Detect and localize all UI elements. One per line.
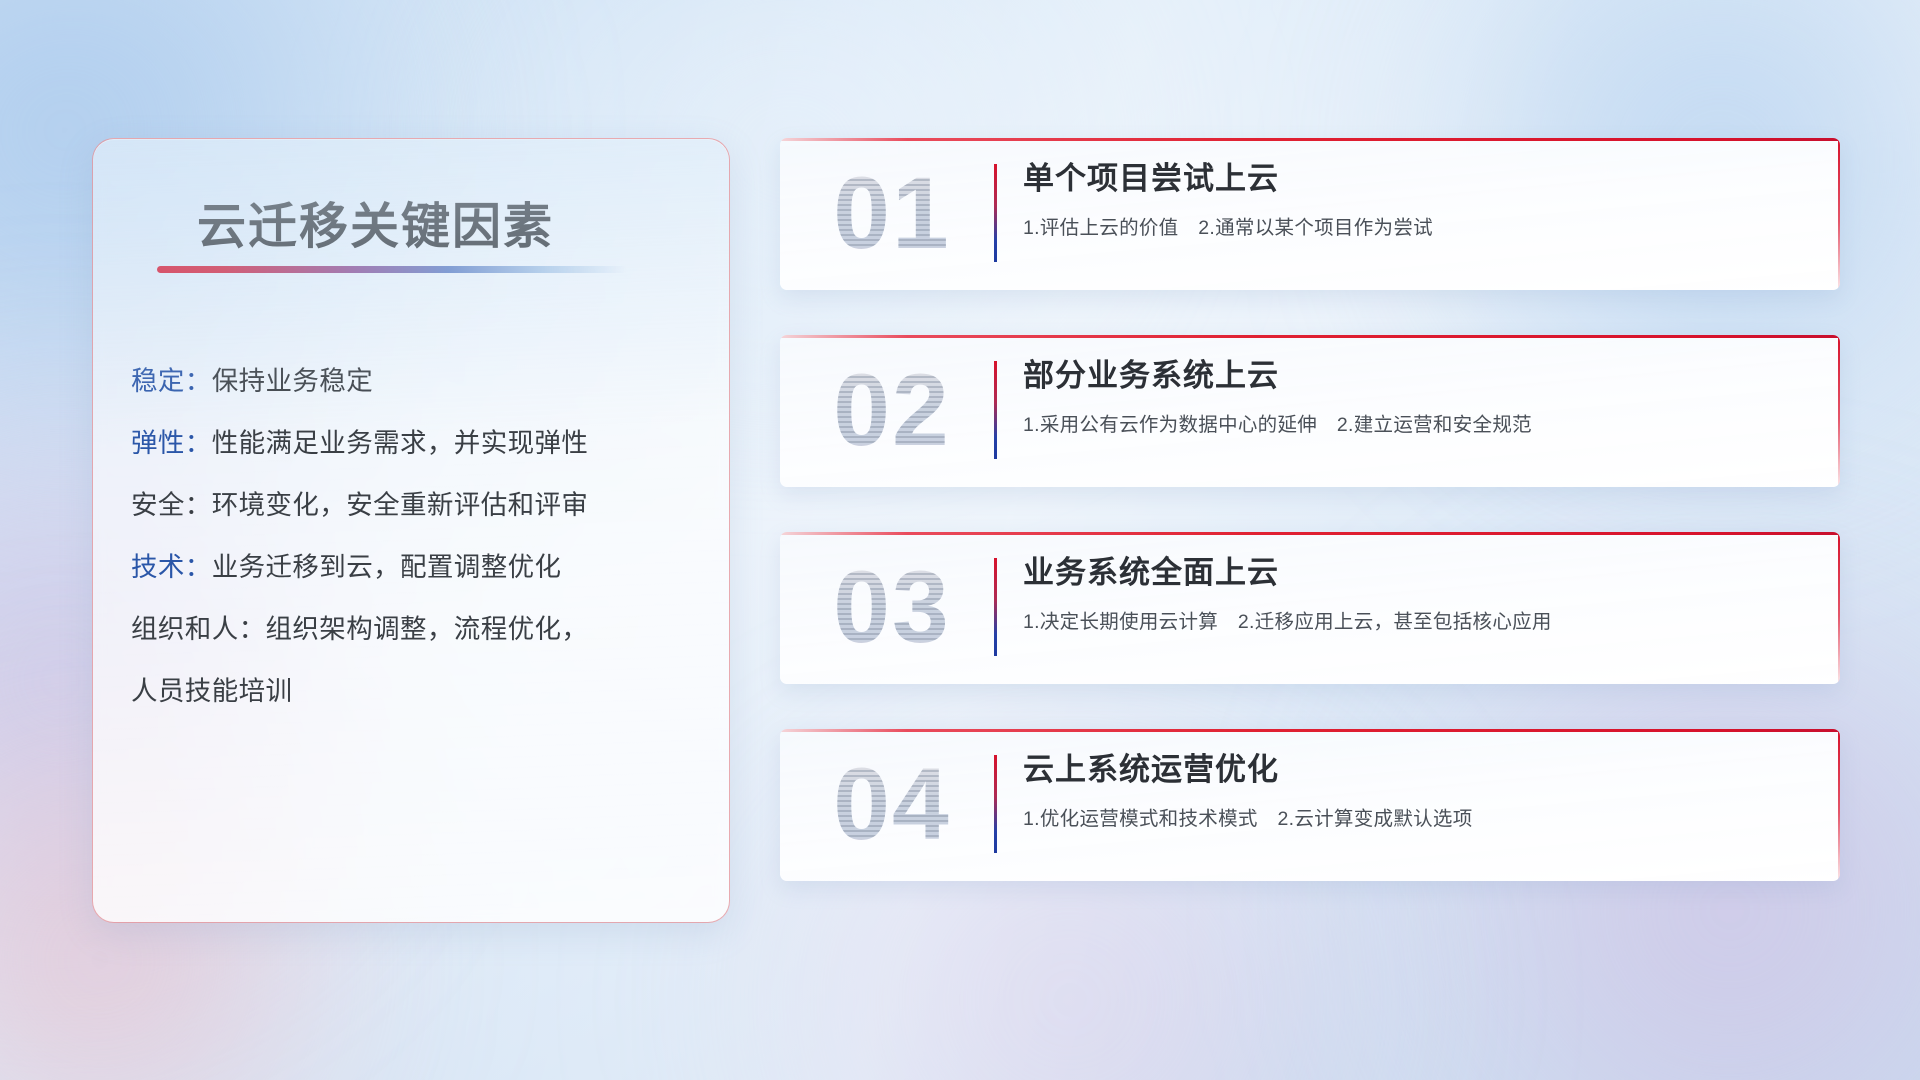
list-item: 稳定： 保持业务稳定: [131, 347, 705, 409]
step-number-watermark: 04: [802, 745, 982, 863]
step-divider-bar: [994, 164, 997, 262]
step-title: 业务系统全面上云: [1023, 550, 1804, 596]
step-title: 部分业务系统上云: [1023, 353, 1804, 399]
step-card-01[interactable]: 01 单个项目尝试上云 1.评估上云的价值 2.通常以某个项目作为尝试: [780, 138, 1840, 290]
factor-label: 技术：: [131, 545, 212, 584]
key-factors-list: 稳定： 保持业务稳定 弹性： 性能满足业务需求，并实现弹性 安全： 环境变化，安…: [131, 347, 705, 719]
page-title: 云迁移关键因素: [197, 187, 554, 258]
factor-label: 组织和人：: [131, 607, 266, 646]
list-item: 技术： 业务迁移到云，配置调整优化: [131, 533, 705, 595]
step-card-02[interactable]: 02 部分业务系统上云 1.采用公有云作为数据中心的延伸 2.建立运营和安全规范: [780, 335, 1840, 487]
cloud-migration-steps: 01 单个项目尝试上云 1.评估上云的价值 2.通常以某个项目作为尝试 02 部…: [780, 138, 1840, 926]
step-divider-bar: [994, 755, 997, 853]
title-underline-gradient: [157, 266, 627, 273]
step-subtitle: 1.决定长期使用云计算 2.迁移应用上云，甚至包括核心应用: [1023, 605, 1804, 634]
step-body: 云上系统运营优化 1.优化运营模式和技术模式 2.云计算变成默认选项: [1023, 747, 1804, 831]
step-body: 单个项目尝试上云 1.评估上云的价值 2.通常以某个项目作为尝试: [1023, 156, 1804, 240]
step-body: 部分业务系统上云 1.采用公有云作为数据中心的延伸 2.建立运营和安全规范: [1023, 353, 1804, 437]
list-item: 安全： 环境变化，安全重新评估和评审: [131, 471, 705, 533]
factor-label: 安全：: [131, 483, 212, 522]
step-number-watermark: 01: [802, 154, 982, 272]
factor-value: 环境变化，安全重新评估和评审: [212, 483, 589, 522]
factor-label: 弹性：: [131, 421, 212, 460]
list-item: 人员技能培训: [131, 657, 705, 719]
step-title: 云上系统运营优化: [1023, 747, 1804, 793]
step-card-04[interactable]: 04 云上系统运营优化 1.优化运营模式和技术模式 2.云计算变成默认选项: [780, 729, 1840, 881]
step-subtitle: 1.评估上云的价值 2.通常以某个项目作为尝试: [1023, 211, 1804, 240]
step-number-watermark: 03: [802, 548, 982, 666]
factor-value: 性能满足业务需求，并实现弹性: [212, 421, 589, 460]
factor-value: 组织架构调整，流程优化，: [266, 607, 589, 646]
step-divider-bar: [994, 361, 997, 459]
slide-stage: 云迁移关键因素 稳定： 保持业务稳定 弹性： 性能满足业务需求，并实现弹性 安全…: [0, 0, 1920, 1080]
factor-label: 稳定：: [131, 359, 212, 398]
factor-value: 人员技能培训: [131, 669, 292, 708]
step-number-watermark: 02: [802, 351, 982, 469]
step-body: 业务系统全面上云 1.决定长期使用云计算 2.迁移应用上云，甚至包括核心应用: [1023, 550, 1804, 634]
list-item: 弹性： 性能满足业务需求，并实现弹性: [131, 409, 705, 471]
key-factors-panel: 云迁移关键因素 稳定： 保持业务稳定 弹性： 性能满足业务需求，并实现弹性 安全…: [92, 138, 730, 923]
step-card-03[interactable]: 03 业务系统全面上云 1.决定长期使用云计算 2.迁移应用上云，甚至包括核心应…: [780, 532, 1840, 684]
step-subtitle: 1.优化运营模式和技术模式 2.云计算变成默认选项: [1023, 802, 1804, 831]
list-item: 组织和人： 组织架构调整，流程优化，: [131, 595, 705, 657]
step-subtitle: 1.采用公有云作为数据中心的延伸 2.建立运营和安全规范: [1023, 408, 1804, 437]
factor-value: 业务迁移到云，配置调整优化: [212, 545, 562, 584]
step-title: 单个项目尝试上云: [1023, 156, 1804, 202]
step-divider-bar: [994, 558, 997, 656]
factor-value: 保持业务稳定: [212, 359, 373, 398]
